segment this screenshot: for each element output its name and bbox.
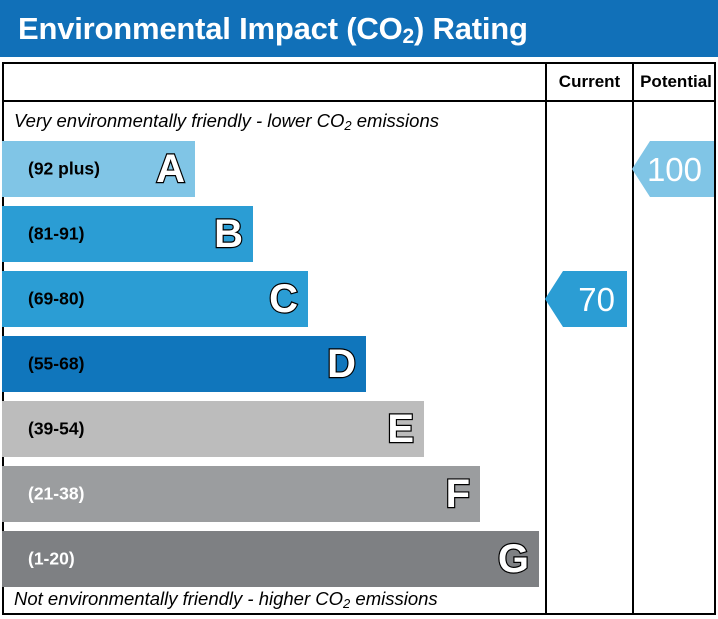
rating-band-g: (1-20)G xyxy=(2,531,539,587)
band-letter-g: G xyxy=(498,539,529,579)
band-range-label: (81-91) xyxy=(28,224,84,245)
rating-band-c: (69-80)C xyxy=(2,271,308,327)
chart-header: Environmental Impact (CO2) Rating xyxy=(0,0,718,57)
rating-band-f: (21-38)F xyxy=(2,466,480,522)
top-caption: Very environmentally friendly - lower CO… xyxy=(14,110,534,132)
band-range-label: (55-68) xyxy=(28,354,84,375)
current-column-header: Current xyxy=(547,64,632,100)
band-letter-d: D xyxy=(327,344,356,384)
header-divider xyxy=(4,100,714,102)
potential-rating-value: 100 xyxy=(647,153,702,186)
current-column-divider xyxy=(545,64,547,613)
band-range-label: (92 plus) xyxy=(28,159,100,180)
potential-column-divider xyxy=(632,64,634,613)
band-letter-c: C xyxy=(269,279,298,319)
rating-band-b: (81-91)B xyxy=(2,206,253,262)
band-range-label: (39-54) xyxy=(28,419,84,440)
band-range-label: (69-80) xyxy=(28,289,84,310)
band-letter-a: A xyxy=(156,149,185,189)
environmental-impact-rating-chart: Environmental Impact (CO2) Rating Curren… xyxy=(0,0,718,619)
potential-column-header: Potential xyxy=(634,64,718,100)
band-letter-b: B xyxy=(214,214,243,254)
bottom-caption: Not environmentally friendly - higher CO… xyxy=(14,588,534,610)
rating-band-a: (92 plus)A xyxy=(2,141,195,197)
current-rating-value: 70 xyxy=(578,283,615,316)
band-letter-e: E xyxy=(387,409,414,449)
band-range-label: (21-38) xyxy=(28,484,84,505)
band-letter-f: F xyxy=(446,474,470,514)
rating-band-d: (55-68)D xyxy=(2,336,366,392)
band-range-label: (1-20) xyxy=(28,549,75,570)
rating-band-e: (39-54)E xyxy=(2,401,424,457)
page-title: Environmental Impact (CO2) Rating xyxy=(18,11,528,47)
